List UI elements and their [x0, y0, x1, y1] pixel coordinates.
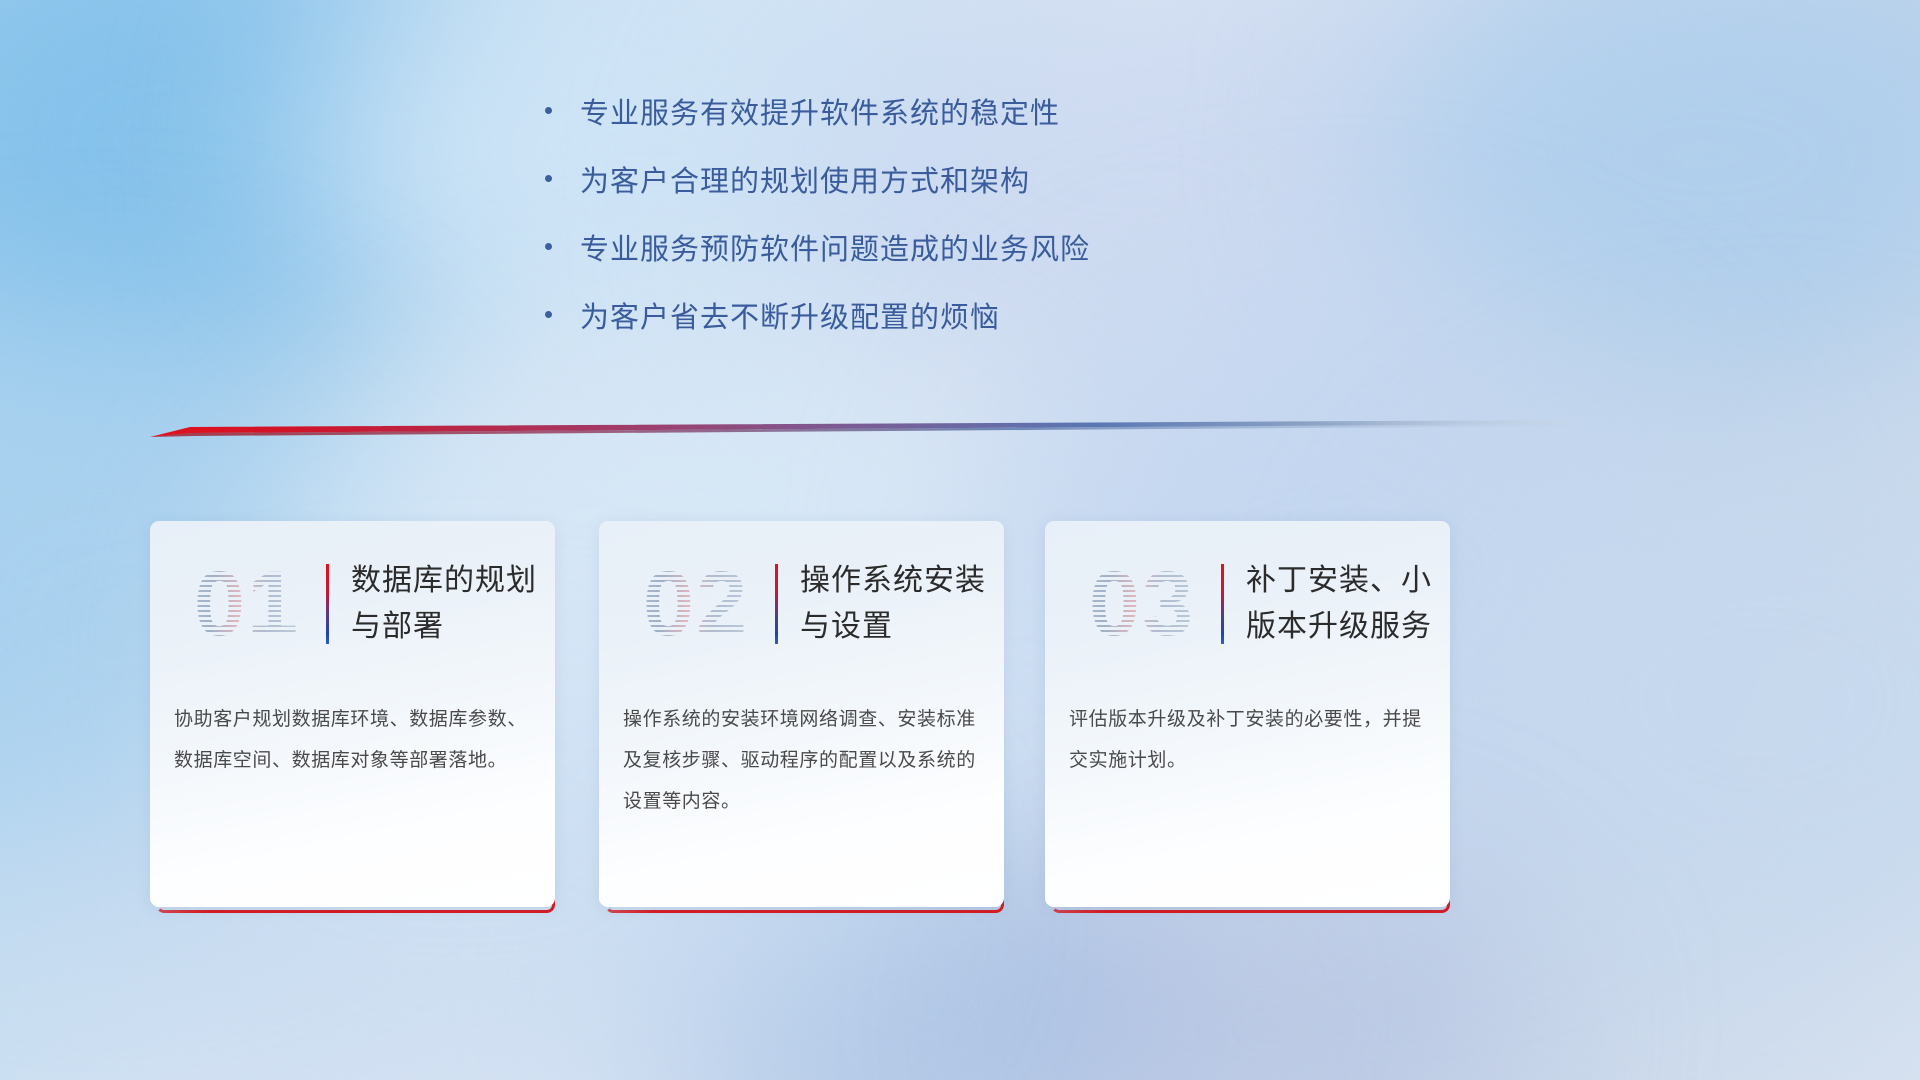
card-header: 01 数据库的规划与部署: [150, 543, 555, 665]
card-number-watermark: 03: [1067, 550, 1217, 658]
service-card[interactable]: 01 数据库的规划与部署 协助客户规划数据库环境、数据库参数、数据库空间、数据库…: [150, 521, 555, 913]
bullet-item: 专业服务预防软件问题造成的业务风险: [545, 224, 1445, 276]
card-number-label: 02: [621, 550, 771, 658]
section-divider: [150, 418, 1580, 440]
bullet-dot-icon: [545, 243, 552, 250]
bullet-item-label: 为客户合理的规划使用方式和架构: [580, 156, 1030, 208]
bullet-item: 专业服务有效提升软件系统的稳定性: [545, 88, 1445, 140]
bullet-item-label: 为客户省去不断升级配置的烦恼: [580, 292, 1000, 344]
card-description: 协助客户规划数据库环境、数据库参数、数据库空间、数据库对象等部署落地。: [174, 699, 532, 781]
card-number-watermark: 02: [621, 550, 771, 658]
card-title: 操作系统安装与设置: [800, 558, 996, 650]
service-card-list: 01 数据库的规划与部署 协助客户规划数据库环境、数据库参数、数据库空间、数据库…: [150, 521, 1450, 921]
card-number-label: 01: [172, 550, 322, 658]
card-header: 03 补丁安装、小版本升级服务: [1045, 543, 1450, 665]
bullet-item: 为客户合理的规划使用方式和架构: [545, 156, 1445, 208]
benefits-bullet-list: 专业服务有效提升软件系统的稳定性 为客户合理的规划使用方式和架构 专业服务预防软…: [545, 88, 1445, 360]
card-title: 数据库的规划与部署: [351, 558, 547, 650]
bullet-item-label: 专业服务预防软件问题造成的业务风险: [580, 224, 1090, 276]
card-surface: 03 补丁安装、小版本升级服务 评估版本升级及补丁安装的必要性，并提交实施计划。: [1045, 521, 1450, 907]
card-title: 补丁安装、小版本升级服务: [1246, 558, 1442, 650]
card-divider-bar: [1221, 564, 1224, 644]
card-surface: 01 数据库的规划与部署 协助客户规划数据库环境、数据库参数、数据库空间、数据库…: [150, 521, 555, 907]
divider-tapered-line-icon: [150, 418, 1580, 440]
bullet-item-label: 专业服务有效提升软件系统的稳定性: [580, 88, 1060, 140]
card-header: 02 操作系统安装与设置: [599, 543, 1004, 665]
card-divider-bar: [326, 564, 329, 644]
card-number-label: 03: [1067, 550, 1217, 658]
card-divider-bar: [775, 564, 778, 644]
card-number-watermark: 01: [172, 550, 322, 658]
service-card[interactable]: 02 操作系统安装与设置 操作系统的安装环境网络调查、安装标准及复核步骤、驱动程…: [599, 521, 1004, 913]
card-surface: 02 操作系统安装与设置 操作系统的安装环境网络调查、安装标准及复核步骤、驱动程…: [599, 521, 1004, 907]
bullet-dot-icon: [545, 175, 552, 182]
card-description: 评估版本升级及补丁安装的必要性，并提交实施计划。: [1069, 699, 1427, 781]
bullet-item: 为客户省去不断升级配置的烦恼: [545, 292, 1445, 344]
bullet-dot-icon: [545, 107, 552, 114]
card-description: 操作系统的安装环境网络调查、安装标准及复核步骤、驱动程序的配置以及系统的设置等内…: [623, 699, 981, 822]
service-card[interactable]: 03 补丁安装、小版本升级服务 评估版本升级及补丁安装的必要性，并提交实施计划。: [1045, 521, 1450, 913]
bullet-dot-icon: [545, 311, 552, 318]
